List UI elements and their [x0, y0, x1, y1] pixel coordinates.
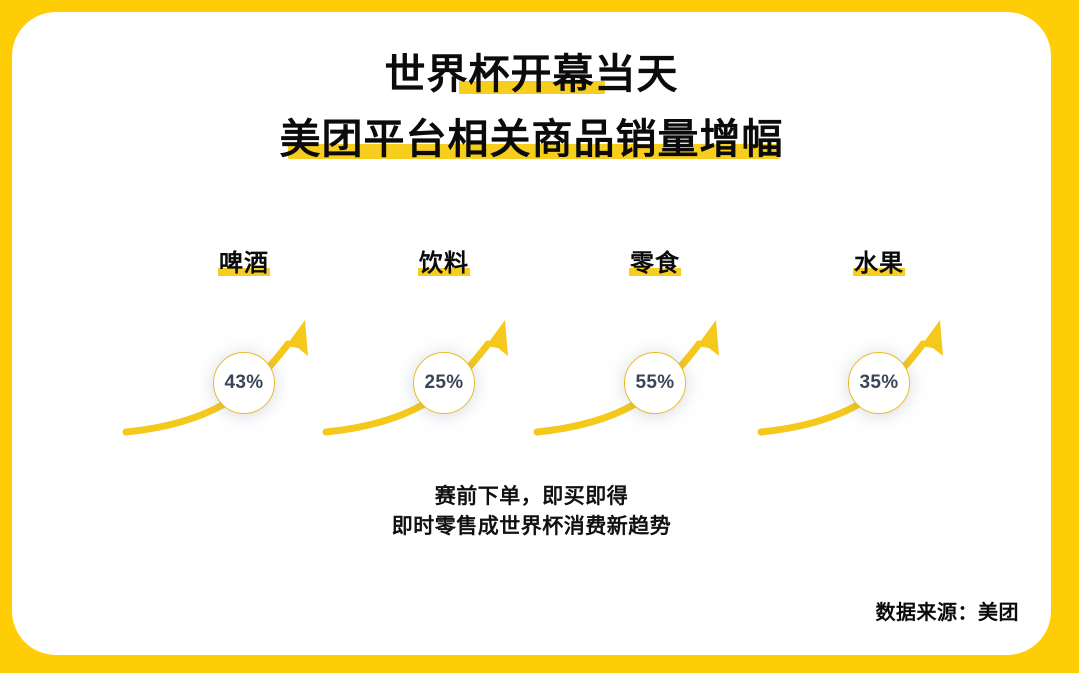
stat-value-fruit: 35%: [860, 372, 899, 394]
caption-line-2: 即时零售成世界杯消费新趋势: [12, 512, 1051, 542]
data-source-note: 数据来源：美团: [876, 596, 1020, 625]
title-block: 世界杯开幕当天 美团平台相关商品销量增幅: [12, 54, 1051, 160]
stat-circle-beer: 43%: [213, 352, 275, 414]
stat-circle-fruit: 35%: [848, 352, 910, 414]
stats-row: 啤酒 43% 饮料 25%: [12, 252, 1051, 462]
infographic-card: 世界杯开幕当天 美团平台相关商品销量增幅 啤酒 43: [12, 12, 1051, 655]
stat-unit-drinks: 饮料 25%: [344, 252, 544, 462]
stat-value-snacks: 55%: [636, 372, 675, 394]
title-row-2: 美团平台相关商品销量增幅: [12, 119, 1051, 160]
stat-label-text: 水果: [854, 250, 904, 277]
stat-label-fruit: 水果: [779, 252, 979, 276]
title-row-1: 世界杯开幕当天: [12, 54, 1051, 95]
stat-unit-snacks: 零食 55%: [555, 252, 755, 462]
stat-circle-drinks: 25%: [413, 352, 475, 414]
caption-block: 赛前下单，即买即得 即时零售成世界杯消费新趋势: [12, 482, 1051, 542]
title-line-1-text: 世界杯开幕当天: [385, 51, 679, 97]
stat-unit-beer: 啤酒 43%: [144, 252, 344, 462]
title-line-2-text: 美团平台相关商品销量增幅: [280, 116, 784, 162]
stat-label-drinks: 饮料: [344, 252, 544, 276]
stat-value-drinks: 25%: [425, 372, 464, 394]
stat-label-snacks: 零食: [555, 252, 755, 276]
title-line-1: 世界杯开幕当天: [385, 54, 679, 95]
stat-circle-snacks: 55%: [624, 352, 686, 414]
stat-label-text: 啤酒: [219, 250, 269, 277]
stat-label-beer: 啤酒: [144, 252, 344, 276]
caption-line-1: 赛前下单，即买即得: [12, 482, 1051, 512]
title-line-2: 美团平台相关商品销量增幅: [280, 119, 784, 160]
stat-label-text: 零食: [630, 250, 680, 277]
stat-unit-fruit: 水果 35%: [779, 252, 979, 462]
stat-label-text: 饮料: [419, 250, 469, 277]
stat-value-beer: 43%: [225, 372, 264, 394]
